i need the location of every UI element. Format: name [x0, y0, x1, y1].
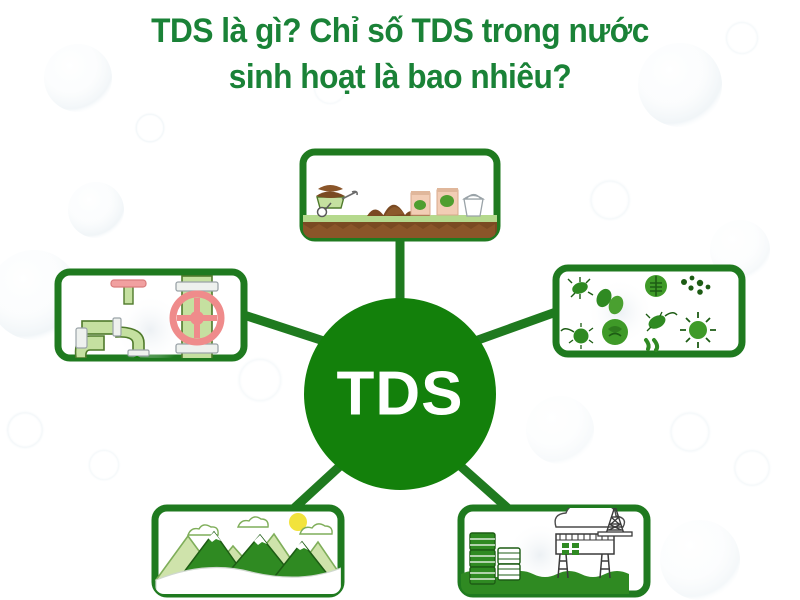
- center-node[interactable]: TDS: [304, 298, 496, 490]
- infographic-canvas: TDS TDS là gì? Chỉ số TDS trong nước sin…: [0, 0, 800, 600]
- node-industry-oil[interactable]: [437, 500, 647, 600]
- pipe-valve-icon: [173, 276, 221, 360]
- cell-nucleus-icon: [602, 319, 628, 345]
- node-soil-fertilizer[interactable]: [295, 152, 497, 244]
- tds-diagram: TDS: [0, 0, 800, 600]
- virus-spiral-icon: [645, 275, 667, 297]
- bucket-icon: [464, 195, 483, 217]
- node-tap-pipe[interactable]: [58, 272, 244, 368]
- node-bacteria[interactable]: [556, 268, 742, 354]
- center-label: TDS: [337, 360, 464, 429]
- node-mountains[interactable]: [155, 508, 344, 596]
